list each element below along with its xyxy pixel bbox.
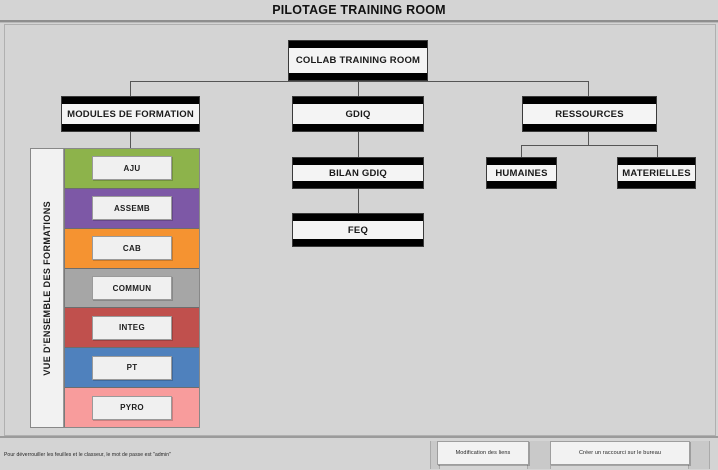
node-bottom-bar (289, 73, 427, 80)
connector-ressources-down (588, 132, 589, 145)
overview-panel-title-text: VUE D'ENSEMBLE DES FORMATIONS (42, 201, 52, 376)
node-label: COLLAB TRAINING ROOM (289, 48, 427, 73)
node-bottom-bar (62, 124, 199, 131)
title-divider (0, 20, 718, 23)
module-button[interactable]: AJU (92, 156, 172, 180)
node-top-bar (293, 97, 423, 104)
module-row[interactable]: PT (65, 348, 199, 388)
module-row[interactable]: COMMUN (65, 269, 199, 309)
node-modules-de-formation[interactable]: MODULES DE FORMATION (61, 96, 200, 132)
node-bottom-bar (618, 181, 695, 188)
node-bottom-bar (293, 181, 423, 188)
diagram-canvas: COLLAB TRAINING ROOM MODULES DE FORMATIO… (4, 24, 716, 436)
password-hint-text: Pour déverrouiller les feuilles et le cl… (4, 452, 171, 458)
node-top-bar (62, 97, 199, 104)
strip-separator-right (688, 441, 710, 469)
create-desktop-shortcut-button[interactable]: Créer un raccourci sur le bureau (550, 441, 690, 465)
connector-level2-bus (130, 81, 588, 82)
node-bottom-bar (487, 181, 556, 188)
node-top-bar (289, 41, 427, 48)
module-row[interactable]: ASSEMB (65, 189, 199, 229)
overview-panel-title: VUE D'ENSEMBLE DES FORMATIONS (31, 149, 64, 427)
node-label: FEQ (293, 221, 423, 239)
node-label: GDIQ (293, 104, 423, 124)
connector-to-materielles (657, 145, 658, 157)
modify-links-button[interactable]: Modification des liens (437, 441, 529, 465)
module-button[interactable]: ASSEMB (92, 196, 172, 220)
module-button[interactable]: CAB (92, 236, 172, 260)
node-top-bar (618, 158, 695, 165)
node-top-bar (293, 158, 423, 165)
node-bottom-bar (293, 239, 423, 246)
module-row[interactable]: AJU (65, 149, 199, 189)
node-materielles[interactable]: MATERIELLES (617, 157, 696, 189)
module-row[interactable]: CAB (65, 229, 199, 269)
overview-panel: VUE D'ENSEMBLE DES FORMATIONS AJUASSEMBC… (30, 148, 200, 428)
node-top-bar (523, 97, 656, 104)
module-row[interactable]: PYRO (65, 388, 199, 427)
strip-separator-middle (527, 441, 551, 469)
node-bilan-gdiq[interactable]: BILAN GDIQ (292, 157, 424, 189)
connector-modules-to-overview (130, 132, 131, 149)
node-label: HUMAINES (487, 165, 556, 181)
node-collab-training-room[interactable]: COLLAB TRAINING ROOM (288, 40, 428, 81)
node-bottom-bar (523, 124, 656, 131)
module-row[interactable]: INTEG (65, 308, 199, 348)
connector-bilan-to-feq (358, 189, 359, 213)
module-button[interactable]: PYRO (92, 396, 172, 420)
node-ressources[interactable]: RESSOURCES (522, 96, 657, 132)
module-button[interactable]: INTEG (92, 316, 172, 340)
node-top-bar (293, 214, 423, 221)
node-feq[interactable]: FEQ (292, 213, 424, 247)
page-title: PILOTAGE TRAINING ROOM (0, 0, 718, 20)
connector-ressources-bus (521, 145, 657, 146)
module-button[interactable]: PT (92, 356, 172, 380)
node-label: MODULES DE FORMATION (62, 104, 199, 124)
connector-gdiq-to-bilan (358, 132, 359, 157)
node-label: RESSOURCES (523, 104, 656, 124)
module-list: AJUASSEMBCABCOMMUNINTEGPTPYRO (64, 149, 199, 427)
node-label: MATERIELLES (618, 165, 695, 181)
node-bottom-bar (293, 124, 423, 131)
node-top-bar (487, 158, 556, 165)
node-label: BILAN GDIQ (293, 165, 423, 181)
connector-to-humaines (521, 145, 522, 157)
node-gdiq[interactable]: GDIQ (292, 96, 424, 132)
module-button[interactable]: COMMUN (92, 276, 172, 300)
node-humaines[interactable]: HUMAINES (486, 157, 557, 189)
